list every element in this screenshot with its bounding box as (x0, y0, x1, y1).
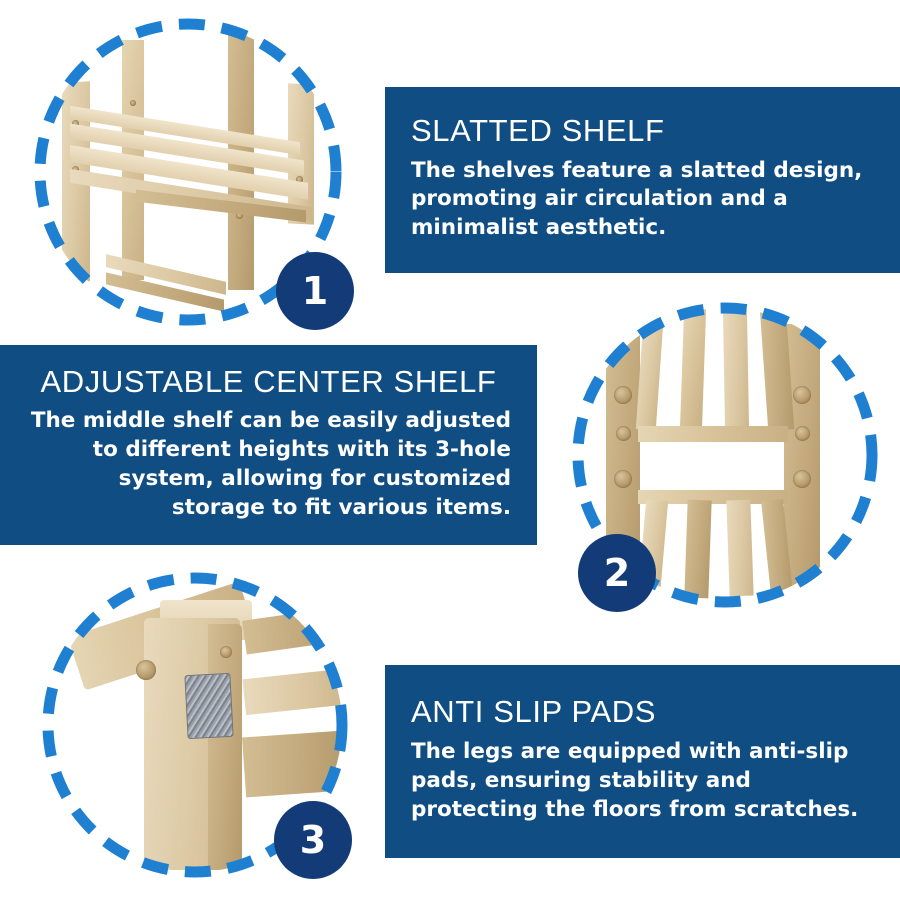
upper-slat-3 (723, 308, 749, 432)
upper-slat-2 (680, 308, 706, 432)
anti-slip-pad (184, 673, 233, 739)
feature-1-badge: 1 (276, 252, 354, 330)
leg-screw (220, 646, 232, 658)
feature-3-badge: 3 (274, 801, 352, 879)
hole-left-2 (616, 426, 631, 441)
bg-slat-1 (242, 607, 342, 654)
upper-shelf-edge (638, 426, 788, 442)
screw-front-post (130, 100, 136, 106)
feature-2-badge-label: 2 (604, 554, 630, 592)
lower-slat-2 (684, 500, 711, 599)
feature-2-panel: ADJUSTABLE CENTER SHELF The middle shelf… (0, 345, 537, 545)
feature-3-body: The legs are equipped with anti-slip pad… (411, 738, 874, 824)
hole-left-1 (614, 386, 632, 404)
feature-3-badge-label: 3 (300, 821, 326, 859)
hole-right-2 (795, 426, 810, 441)
hole-right-3 (793, 470, 811, 488)
lower-slat-3 (726, 500, 753, 597)
bg-slat-3 (242, 731, 342, 798)
upper-slat-1 (636, 308, 664, 431)
feature-2-title: ADJUSTABLE CENTER SHELF (41, 364, 497, 400)
feature-1-badge-label: 1 (302, 272, 328, 310)
feature-1-body: The shelves feature a slatted design, pr… (411, 157, 874, 243)
feature-2-badge: 2 (578, 534, 656, 612)
feature-2-body: The middle shelf can be easily adjusted … (26, 407, 511, 522)
feature-3-panel: ANTI SLIP PADS The legs are equipped wit… (385, 665, 900, 858)
feature-1-panel: SLATTED SHELF The shelves feature a slat… (385, 87, 900, 273)
bg-slat-2 (242, 669, 342, 715)
feature-3-title: ANTI SLIP PADS (411, 694, 874, 730)
infographic-page: 1 SLATTED SHELF The shelves feature a sl… (0, 0, 900, 900)
hole-right-1 (793, 386, 811, 404)
hole-left-3 (614, 470, 632, 488)
leg-post-shadow-face (208, 624, 242, 870)
rail-screw (136, 660, 156, 680)
feature-1-title: SLATTED SHELF (411, 113, 874, 149)
